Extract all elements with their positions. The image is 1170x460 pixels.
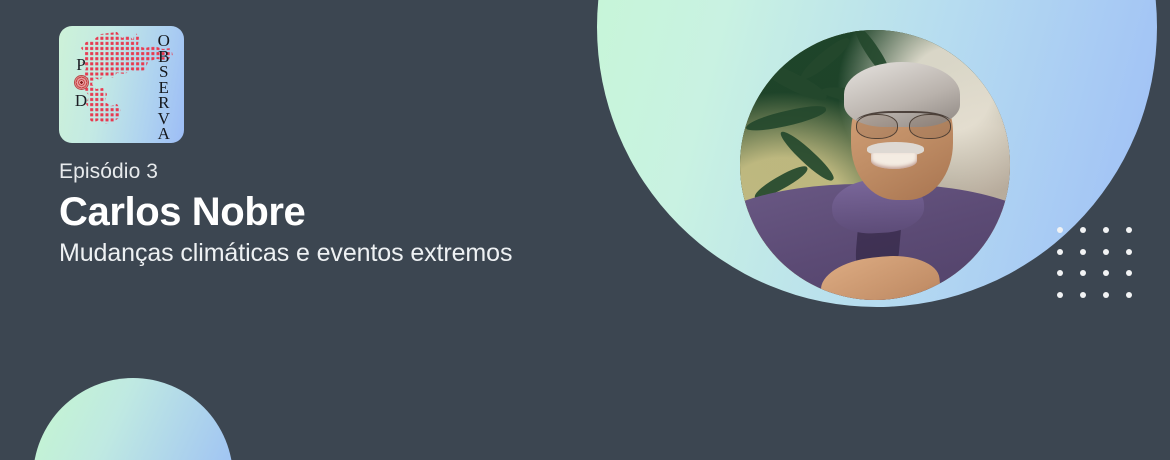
grid-dot bbox=[1126, 270, 1132, 276]
grid-dot bbox=[1103, 227, 1109, 233]
plant-leaf-icon bbox=[796, 34, 853, 83]
episode-banner: P D O B S E R V A R Episódio 3 Carlos No… bbox=[0, 0, 1170, 460]
grid-dot bbox=[1080, 270, 1086, 276]
logo-letter-d: D bbox=[75, 91, 87, 110]
gradient-circle-bottom-left bbox=[33, 378, 233, 460]
guest-name-title: Carlos Nobre bbox=[59, 188, 699, 236]
grid-dot bbox=[1080, 249, 1086, 255]
grid-dot bbox=[1057, 227, 1063, 233]
grid-dot bbox=[1126, 249, 1132, 255]
portrait-smile bbox=[871, 153, 917, 169]
grid-dot bbox=[1103, 270, 1109, 276]
logo-pod-mark: P D bbox=[68, 56, 94, 109]
dot-grid-pattern bbox=[1057, 227, 1149, 313]
episode-copy: Episódio 3 Carlos Nobre Mudanças climáti… bbox=[59, 158, 699, 269]
logo-letter-p: P bbox=[76, 55, 85, 74]
observar-letter: R bbox=[151, 142, 177, 144]
grid-dot bbox=[1057, 249, 1063, 255]
guest-portrait bbox=[740, 30, 1010, 300]
episode-number: Episódio 3 bbox=[59, 158, 699, 185]
microphone-icon bbox=[74, 75, 89, 90]
grid-dot bbox=[1126, 292, 1132, 298]
grid-dot bbox=[1126, 227, 1132, 233]
eyeglasses-icon bbox=[856, 111, 951, 137]
logo-observar-wordmark: O B S E R V A R bbox=[151, 33, 177, 143]
grid-dot bbox=[1103, 292, 1109, 298]
grid-dot bbox=[1057, 292, 1063, 298]
grid-dot bbox=[1080, 227, 1086, 233]
grid-dot bbox=[1057, 270, 1063, 276]
plant-leaf-icon bbox=[745, 103, 828, 135]
episode-subtitle: Mudanças climáticas e eventos extremos bbox=[59, 237, 699, 269]
grid-dot bbox=[1080, 292, 1086, 298]
grid-dot bbox=[1103, 249, 1109, 255]
podcast-observar-logo[interactable]: P D O B S E R V A R bbox=[59, 26, 184, 143]
